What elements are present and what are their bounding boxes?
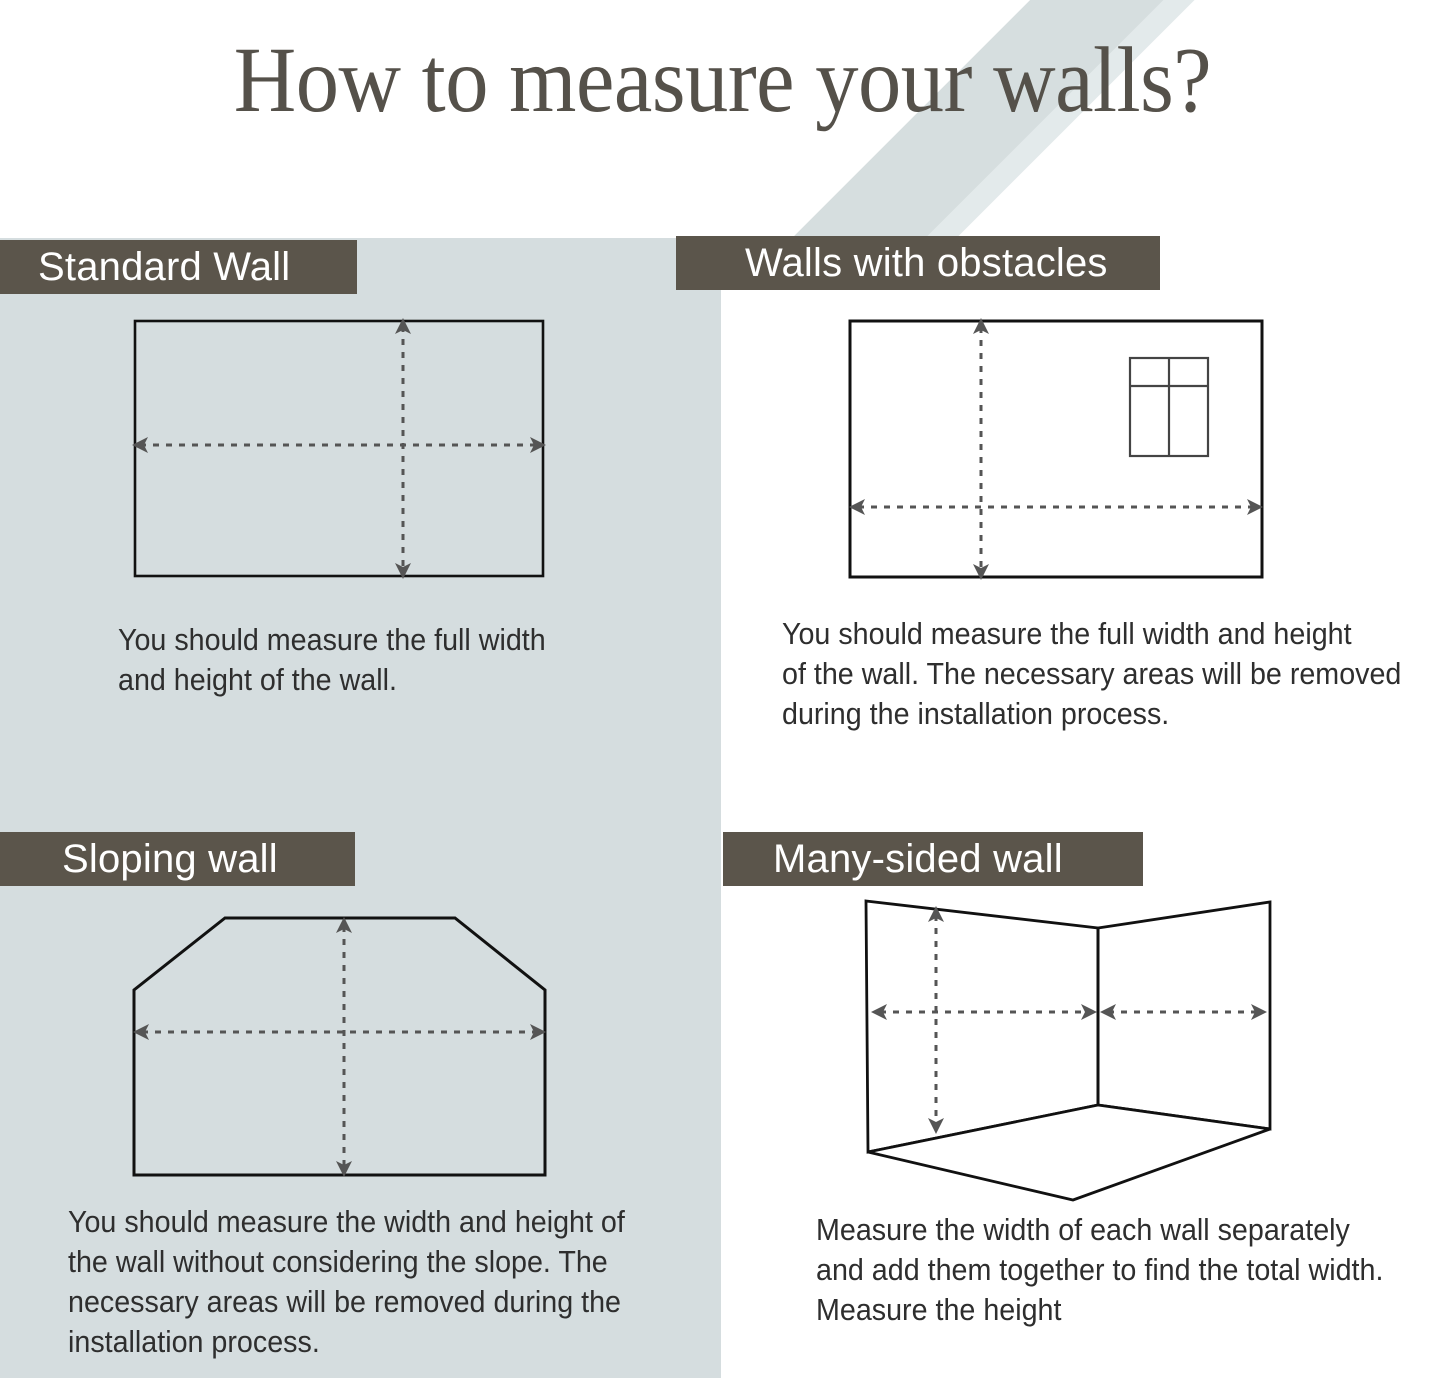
caption-walls-with-obstacles: You should measure the full width and he… bbox=[782, 614, 1402, 734]
wall-outline bbox=[134, 918, 545, 1175]
caption-line: the wall without considering the slope. … bbox=[68, 1242, 651, 1282]
page-title: How to measure your walls? bbox=[51, 34, 1395, 129]
window-obstacle-icon bbox=[1130, 358, 1208, 456]
caption-line: of the wall. The necessary areas will be… bbox=[782, 654, 1402, 694]
caption-line: Measure the width of each wall separatel… bbox=[816, 1210, 1418, 1250]
caption-line: and height of the wall. bbox=[118, 660, 644, 700]
section-heading-many-sided-wall: Many-sided wall bbox=[723, 832, 1143, 886]
caption-line: You should measure the full width and he… bbox=[782, 614, 1402, 654]
caption-line: during the installation process. bbox=[782, 694, 1402, 734]
width-measure-arrow bbox=[133, 1024, 546, 1040]
right-wall-face bbox=[1098, 902, 1270, 1129]
section-heading-walls-with-obstacles: Walls with obstacles bbox=[676, 236, 1160, 290]
width-measure-arrow bbox=[132, 437, 546, 453]
caption-line: necessary areas will be removed during t… bbox=[68, 1282, 651, 1322]
height-measure-arrow bbox=[336, 917, 352, 1177]
caption-line: and add them together to find the total … bbox=[816, 1250, 1418, 1290]
diagram-sloping-wall bbox=[100, 890, 580, 1210]
caption-line: installation process. bbox=[68, 1322, 651, 1362]
caption-line: Measure the height bbox=[816, 1290, 1418, 1330]
section-heading-standard-wall: Standard Wall bbox=[0, 240, 357, 294]
section-heading-sloping-wall: Sloping wall bbox=[0, 832, 355, 886]
diagram-many-sided-wall bbox=[840, 885, 1300, 1215]
diagram-standard-wall bbox=[110, 300, 580, 600]
caption-many-sided-wall: Measure the width of each wall separatel… bbox=[816, 1210, 1418, 1330]
diagram-wall-with-obstacles bbox=[820, 300, 1300, 600]
wall-outline bbox=[135, 321, 543, 576]
caption-line: You should measure the full width bbox=[118, 620, 644, 660]
height-measure-arrow bbox=[395, 318, 411, 579]
caption-standard-wall: You should measure the full width and he… bbox=[118, 620, 644, 700]
caption-sloping-wall: You should measure the width and height … bbox=[68, 1202, 651, 1362]
caption-line: You should measure the width and height … bbox=[68, 1202, 651, 1242]
